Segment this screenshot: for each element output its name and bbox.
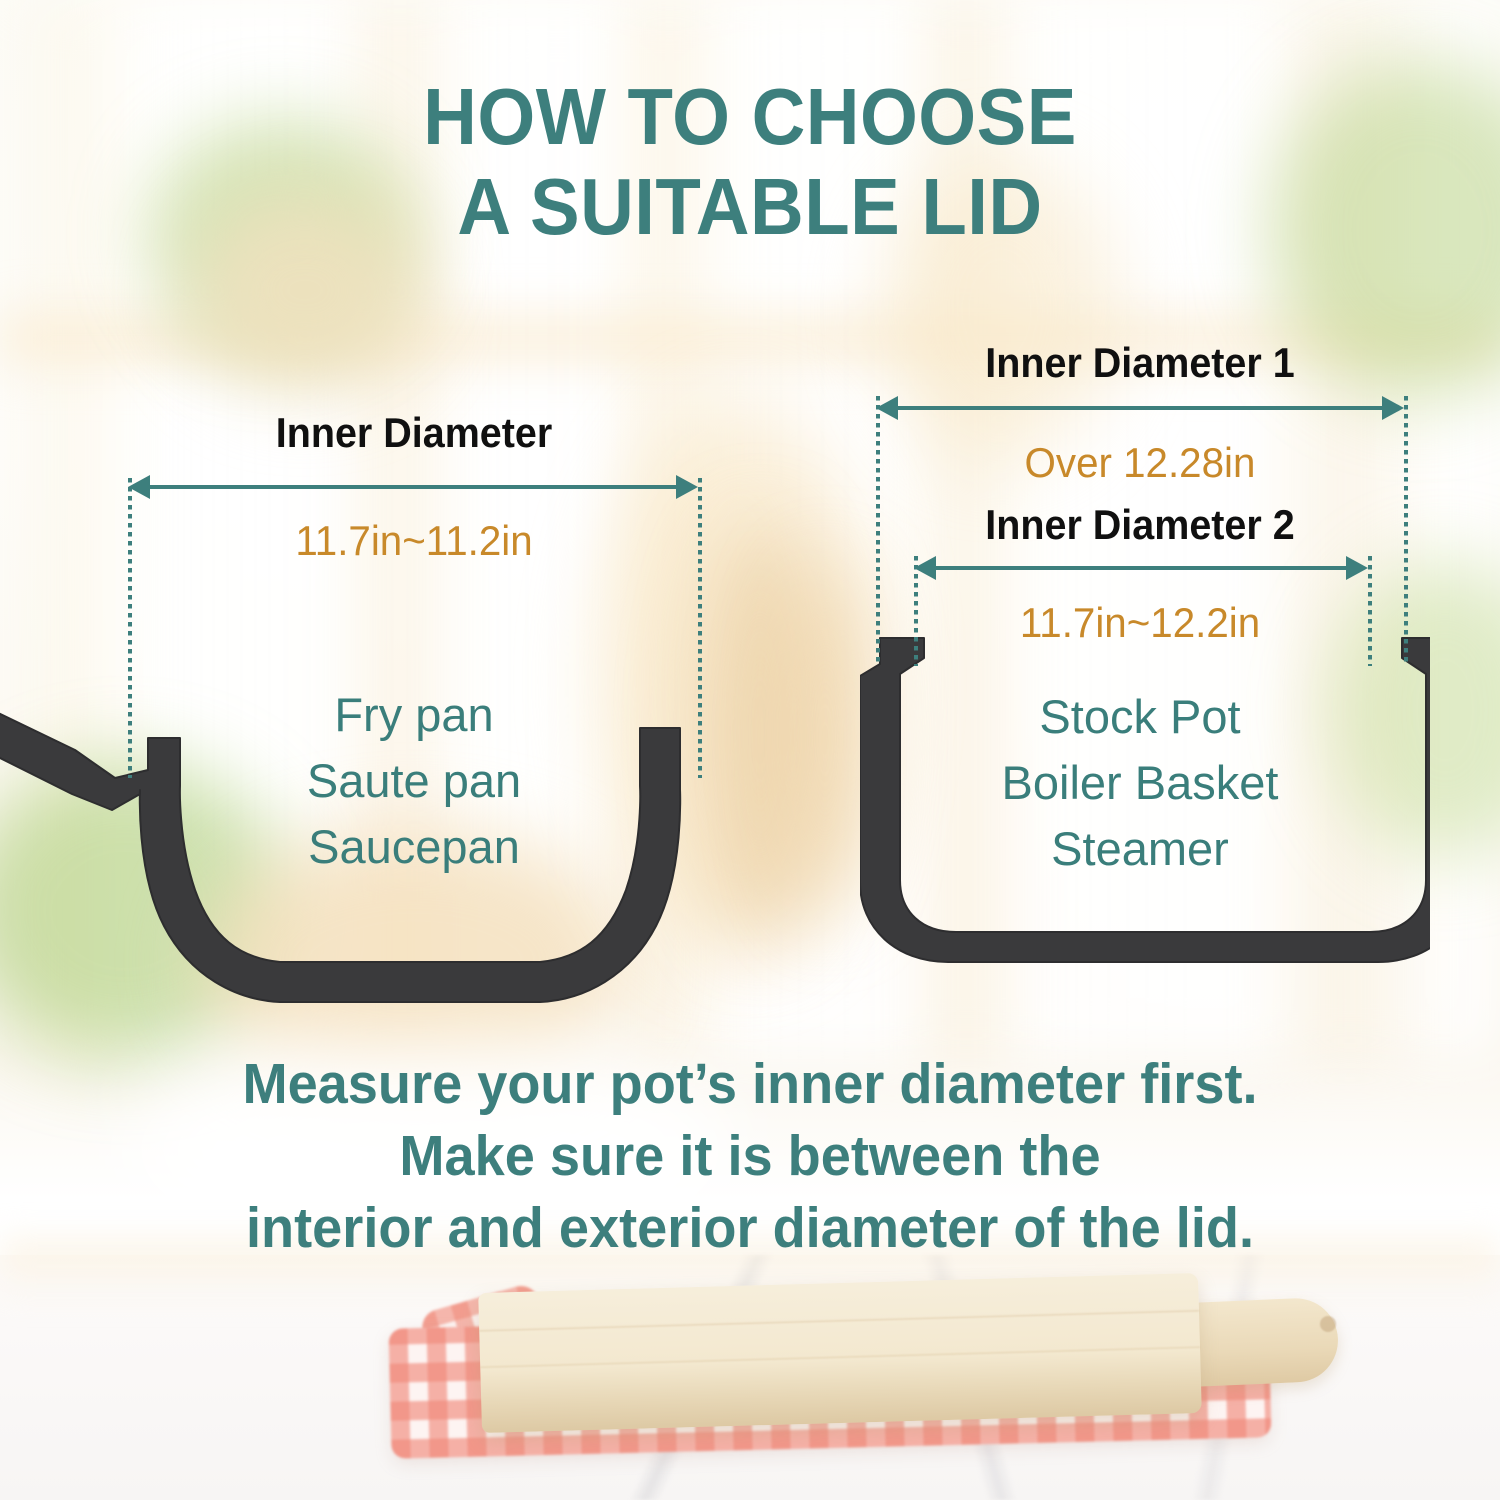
instruction-text: Measure your pot’s inner diameter first.… xyxy=(38,1048,1463,1264)
measurement-arrow-right-inner xyxy=(934,566,1348,570)
cutting-board-grain xyxy=(478,1273,1202,1433)
right-vessel-names: Stock Pot Boiler Basket Steamer xyxy=(876,684,1404,882)
left-dimension-label: Inner Diameter xyxy=(145,410,683,456)
measurement-arrow-left xyxy=(148,485,678,489)
blurred-utensil-2 xyxy=(780,560,870,920)
guide-line-right-outer-right xyxy=(1404,396,1408,666)
left-dimension-value: 11.7in~11.2in xyxy=(139,518,688,564)
cutting-board xyxy=(478,1273,1202,1433)
cutting-board-handle xyxy=(1176,1297,1340,1388)
right-dimension-label-1: Inner Diameter 1 xyxy=(892,340,1388,386)
left-vessel-names: Fry pan Saute pan Saucepan xyxy=(128,682,700,880)
right-dimension-label-2: Inner Diameter 2 xyxy=(892,502,1388,548)
right-dimension-value-2: 11.7in~12.2in xyxy=(887,600,1394,646)
right-dimension-value-1: Over 12.28in xyxy=(887,440,1394,486)
measurement-arrow-right-outer xyxy=(896,406,1384,410)
guide-line-right-outer-left xyxy=(876,396,880,666)
page-title: HOW TO CHOOSE A SUITABLE LID xyxy=(53,72,1448,252)
infographic-canvas: HOW TO CHOOSE A SUITABLE LID Inner Diame… xyxy=(0,0,1500,1500)
cutting-board-hole xyxy=(1320,1316,1336,1332)
